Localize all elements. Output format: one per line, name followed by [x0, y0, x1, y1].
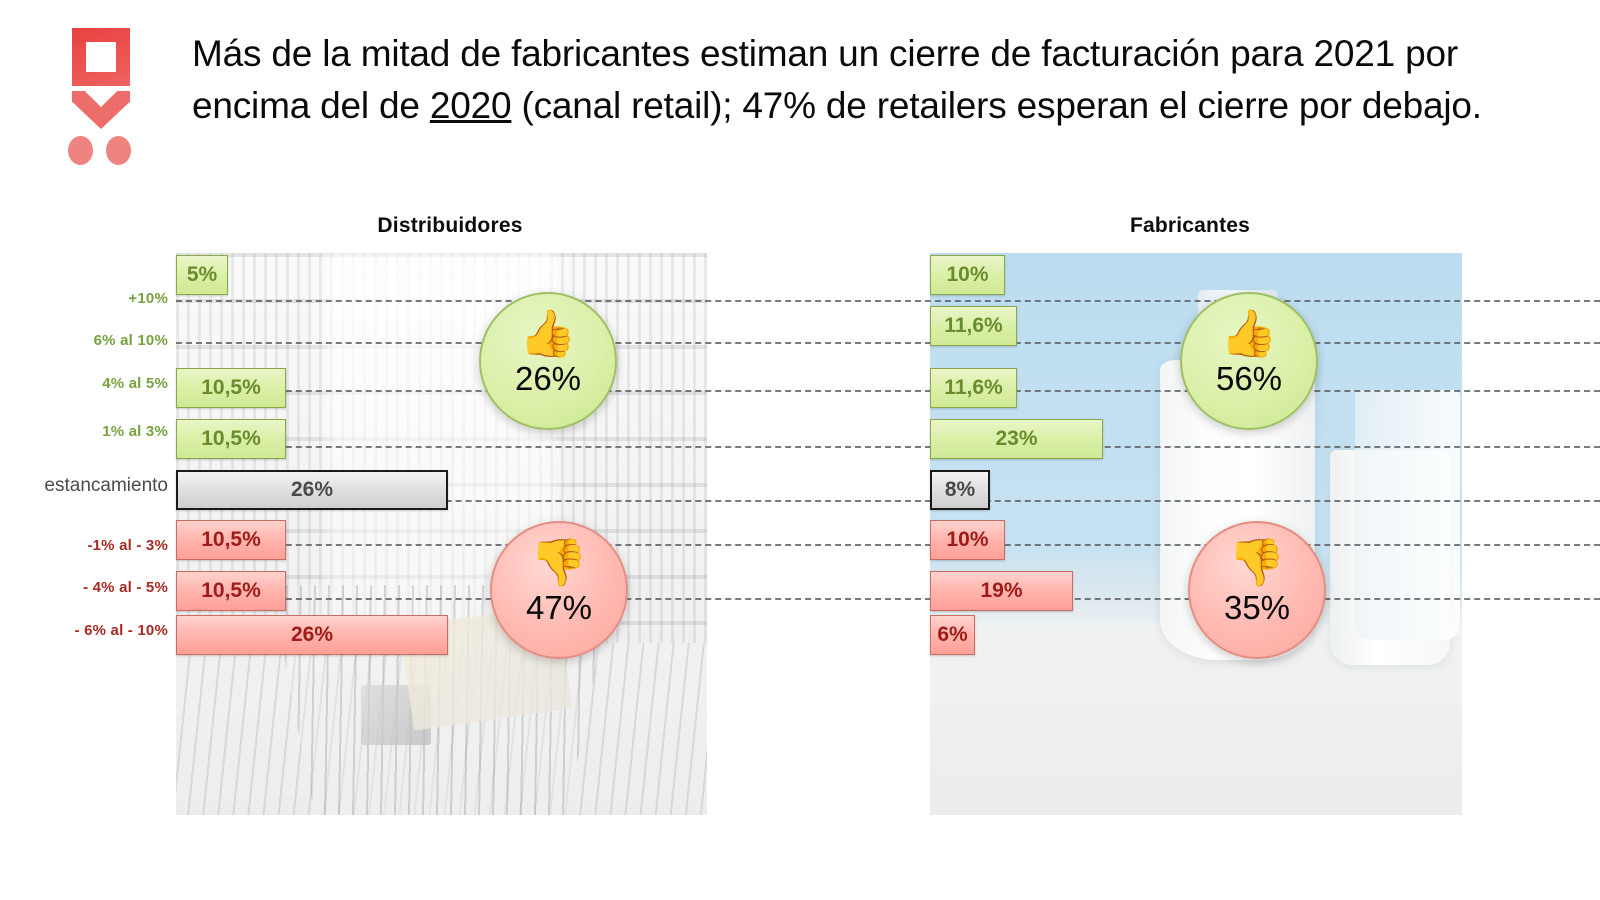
summary-badge-value: 35% [1224, 589, 1290, 627]
bar-fabricantes-4: 8% [930, 470, 990, 510]
bar-distribuidores-5: 10,5% [176, 520, 286, 560]
logo-chevron-icon [72, 91, 130, 129]
column-title-fabricantes: Fabricantes [1050, 214, 1330, 238]
logo-dot-left-icon [68, 136, 93, 165]
title-underlined-year: 2020 [430, 85, 512, 126]
bar-fabricantes-6: 19% [930, 571, 1073, 611]
thumbs-up-icon: 👍 [1220, 310, 1277, 356]
page-title: Más de la mitad de fabricantes estiman u… [192, 28, 1512, 132]
thumbs-down-icon: 👎 [530, 539, 587, 585]
gridline [176, 390, 1600, 392]
category-label-4: estancamiento [44, 475, 168, 497]
header: Más de la mitad de fabricantes estiman u… [0, 0, 1600, 200]
gridline [176, 342, 1600, 344]
bar-distribuidores-2: 10,5% [176, 368, 286, 408]
summary-badge-fabricantes-positive: 👍 56% [1180, 292, 1318, 430]
category-label-3: 1% al 3% [102, 423, 168, 440]
summary-badge-distribuidores-negative: 👎 47% [490, 521, 628, 659]
category-label-0: +10% [128, 290, 168, 307]
gridline [176, 544, 1600, 546]
bar-distribuidores-7: 26% [176, 615, 448, 655]
bar-distribuidores-0: 5% [176, 255, 228, 295]
gridline [176, 446, 1600, 448]
category-label-5: -1% al - 3% [87, 537, 168, 554]
bar-fabricantes-1: 11,6% [930, 306, 1017, 346]
logo-square-icon [72, 28, 130, 86]
bar-distribuidores-6: 10,5% [176, 571, 286, 611]
category-label-2: 4% al 5% [102, 375, 168, 392]
chart-area: Distribuidores Fabricantes +10%5%10%6% a… [0, 200, 1600, 900]
title-line-1: Más de la mitad de fabricantes estiman u… [192, 33, 1220, 74]
thumbs-down-icon: 👎 [1228, 539, 1285, 585]
gridline [176, 300, 1600, 302]
title-line-2-after: (canal retail); 47% de retailers [511, 85, 1006, 126]
category-label-7: - 6% al - 10% [75, 622, 168, 639]
company-logo [58, 28, 144, 168]
bar-distribuidores-3: 10,5% [176, 419, 286, 459]
summary-badge-value: 47% [526, 589, 592, 627]
column-title-distribuidores: Distribuidores [300, 214, 600, 238]
bar-fabricantes-7: 6% [930, 615, 975, 655]
bar-fabricantes-3: 23% [930, 419, 1103, 459]
summary-badge-value: 26% [515, 360, 581, 398]
bar-fabricantes-0: 10% [930, 255, 1005, 295]
bar-distribuidores-4: 26% [176, 470, 448, 510]
logo-square-inner [86, 42, 116, 72]
summary-badge-fabricantes-negative: 👎 35% [1188, 521, 1326, 659]
logo-dot-right-icon [106, 136, 131, 165]
thumbs-up-icon: 👍 [519, 310, 576, 356]
category-label-1: 6% al 10% [94, 332, 168, 349]
summary-badge-distribuidores-positive: 👍 26% [479, 292, 617, 430]
title-line-3: esperan el cierre por debajo. [1017, 85, 1482, 126]
summary-badge-value: 56% [1216, 360, 1282, 398]
category-label-6: - 4% al - 5% [83, 579, 168, 596]
gridline [176, 598, 1600, 600]
bar-fabricantes-5: 10% [930, 520, 1005, 560]
bar-fabricantes-2: 11,6% [930, 368, 1017, 408]
